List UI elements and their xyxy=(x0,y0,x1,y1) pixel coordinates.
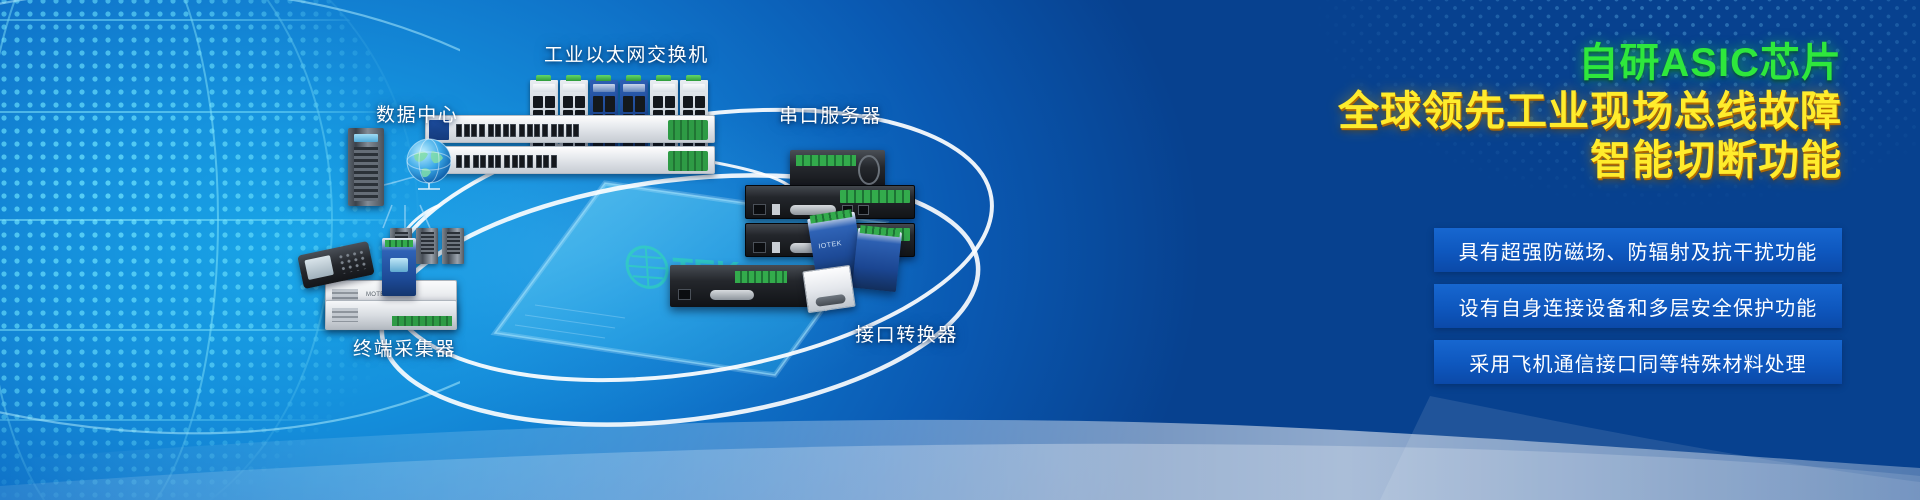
feature-bullet-text: 具有超强防磁场、防辐射及抗干扰功能 xyxy=(1459,236,1818,265)
terminal-collector-unit-lower xyxy=(325,300,457,330)
label-serial-port-server: 串口服务器 xyxy=(779,101,882,128)
interface-converter-blue-2 xyxy=(852,228,902,292)
data-center-cabinet xyxy=(348,128,384,206)
headline-block: 自研ASIC芯片 全球领先工业现场总线故障 智能切断功能 xyxy=(1338,40,1842,186)
label-interface-converter: 接口转换器 xyxy=(855,320,958,347)
feature-bullet: 采用飞机通信接口同等特殊材料处理 xyxy=(1434,340,1842,384)
interface-converter-rack xyxy=(670,265,815,307)
promo-banner: TEK xyxy=(0,0,1920,500)
blue-collector-module xyxy=(382,238,416,296)
feature-bullet: 设有自身连接设备和多层安全保护功能 xyxy=(1434,284,1842,328)
rackmount-switch-stack xyxy=(425,115,715,177)
interface-converter-white xyxy=(802,265,855,313)
headline-line-3: 智能切断功能 xyxy=(1338,136,1842,185)
globe-icon xyxy=(400,135,458,193)
feature-bullet-text: 设有自身连接设备和多层安全保护功能 xyxy=(1459,292,1818,321)
label-terminal-collector: 终端采集器 xyxy=(353,334,456,361)
headline-line-2: 全球领先工业现场总线故障 xyxy=(1338,87,1842,136)
feature-bullet-list: 具有超强防磁场、防辐射及抗干扰功能 设有自身连接设备和多层安全保护功能 采用飞机… xyxy=(1434,228,1842,396)
feature-bullet: 具有超强防磁场、防辐射及抗干扰功能 xyxy=(1434,228,1842,272)
label-data-center: 数据中心 xyxy=(376,100,458,127)
feature-bullet-text: 采用飞机通信接口同等特殊材料处理 xyxy=(1469,348,1807,377)
headline-line-1: 自研ASIC芯片 xyxy=(1338,40,1842,87)
label-industrial-ethernet-switch: 工业以太网交换机 xyxy=(544,40,709,67)
